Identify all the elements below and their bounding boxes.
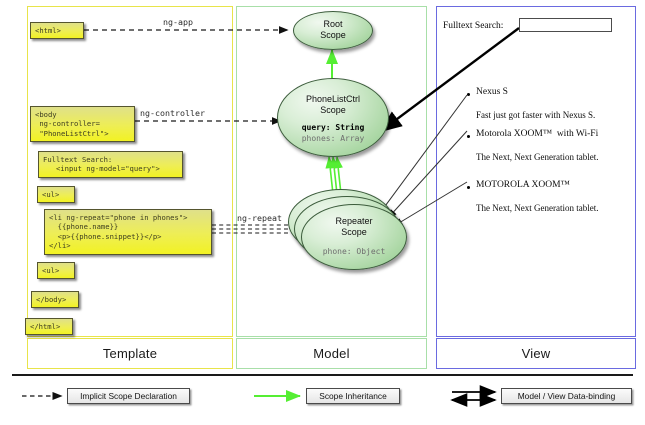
code-box-search-input: Fulltext Search: <input ng-model="query"… [38, 151, 183, 178]
legend-label: Model / View Data-binding [518, 391, 616, 401]
scope-phonelistctrl: PhoneListCtrl Scope query: String phones… [277, 78, 389, 157]
column-view-label: View [522, 346, 551, 361]
phone-snippet: The Next, Next Generation tablet. [476, 152, 598, 162]
list-bullet-icon [467, 135, 470, 138]
code-box-body-close: </body> [31, 291, 79, 308]
code-box-html-close: </html> [25, 318, 73, 335]
scope-repeater: Repeater Scope phone: Object [301, 204, 407, 270]
phone-snippet: The Next, Next Generation tablet. [476, 203, 598, 213]
legend-divider [12, 374, 633, 376]
code-box-body-open: <body ng-controller= "PhoneListCtrl"> [30, 106, 135, 142]
phone-name: Motorola XOOM™ with Wi-Fi [476, 129, 598, 139]
column-view-body [436, 6, 636, 337]
scope-repeater-title: Repeater Scope [302, 216, 406, 238]
code-box-li-ng-repeat: <li ng-repeat="phone in phones"> {{phone… [44, 209, 212, 255]
legend-scope-inheritance: Scope Inheritance [306, 388, 400, 404]
fulltext-search-input[interactable] [519, 18, 612, 32]
scope-phonelistctrl-title: PhoneListCtrl Scope [278, 94, 388, 116]
prop-query-text: query: String [302, 123, 365, 132]
list-bullet-icon [467, 186, 470, 189]
phone-snippet: Fast just got faster with Nexus S. [476, 110, 595, 120]
legend-implicit-scope-declaration: Implicit Scope Declaration [67, 388, 190, 404]
column-model-body [236, 6, 427, 337]
scope-root-title: Root Scope [294, 19, 372, 41]
label-ng-controller: ng-controller [140, 108, 205, 118]
legend-label: Scope Inheritance [319, 391, 387, 401]
list-bullet-icon [467, 93, 470, 96]
label-ng-repeat: ng-repeat [237, 213, 282, 223]
diagram-canvas: Template Model View [0, 0, 645, 425]
column-view-footer: View [436, 338, 636, 369]
scope-repeater-prop-phone: phone: Object [302, 247, 406, 258]
scope-phonelistctrl-prop-phones: phones: Array [278, 134, 388, 145]
label-ng-app: ng-app [163, 17, 193, 27]
code-box-ul-close: <ul> [37, 262, 75, 279]
legend-model-view-data-binding: Model / View Data-binding [501, 388, 632, 404]
phone-name: Nexus S [476, 87, 508, 97]
phone-name: MOTOROLA XOOM™ [476, 180, 570, 190]
column-template-footer: Template [27, 338, 233, 369]
code-box-html-open: <html> [30, 22, 84, 39]
column-template-label: Template [103, 346, 157, 361]
fulltext-search-label: Fulltext Search: [443, 21, 503, 31]
scope-root: Root Scope [293, 11, 373, 50]
scope-phonelistctrl-prop-query: query: String [278, 123, 388, 134]
legend-label: Implicit Scope Declaration [80, 391, 177, 401]
code-box-ul-open: <ul> [37, 186, 75, 203]
column-model-label: Model [313, 346, 349, 361]
column-model-footer: Model [236, 338, 427, 369]
